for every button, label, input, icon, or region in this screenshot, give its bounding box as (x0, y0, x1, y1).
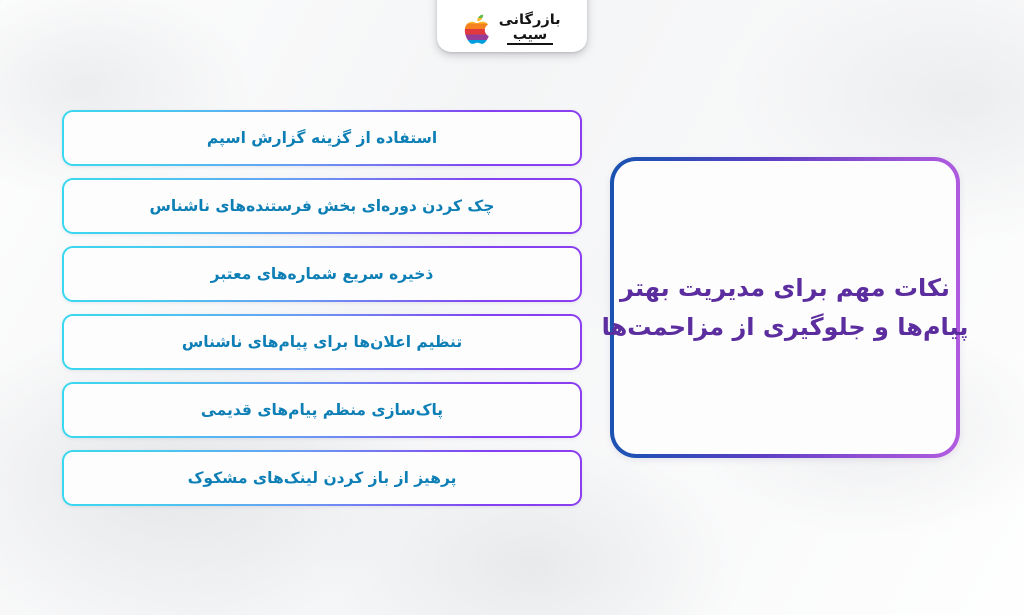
list-item-label: تنظیم اعلان‌ها برای پیام‌های ناشناس (182, 333, 462, 351)
list-item-label: ذخیره سریع شماره‌های معتبر (211, 265, 434, 283)
page-title-line-1: نکات مهم برای مدیریت بهتر (602, 269, 969, 308)
list-item-label: استفاده از گزینه گزارش اسپم (207, 129, 437, 147)
brand-logo-card[interactable]: بازرگانی سیب (437, 0, 587, 52)
logo-line-2: سیب (507, 28, 553, 45)
highlight-panel: نکات مهم برای مدیریت بهتر پیام‌ها و جلوگ… (610, 157, 960, 458)
list-item[interactable]: پرهیز از باز کردن لینک‌های مشکوک (62, 450, 582, 506)
list-item[interactable]: پاک‌سازی منظم پیام‌های قدیمی (62, 382, 582, 438)
logo-wordmark: بازرگانی سیب (500, 13, 559, 45)
list-item[interactable]: ذخیره سریع شماره‌های معتبر (62, 246, 582, 302)
page-title: نکات مهم برای مدیریت بهتر پیام‌ها و جلوگ… (588, 269, 983, 347)
list-item-label: پرهیز از باز کردن لینک‌های مشکوک (188, 469, 457, 487)
tips-list: استفاده از گزینه گزارش اسپم چک کردن دوره… (62, 110, 582, 506)
page-title-line-2: پیام‌ها و جلوگیری از مزاحمت‌ها (602, 308, 969, 347)
logo-line-1: بازرگانی (499, 13, 561, 27)
list-item[interactable]: تنظیم اعلان‌ها برای پیام‌های ناشناس (62, 314, 582, 370)
list-item-label: چک کردن دوره‌ای بخش فرستنده‌های ناشناس (150, 197, 495, 215)
list-item-label: پاک‌سازی منظم پیام‌های قدیمی (201, 401, 443, 419)
list-item[interactable]: چک کردن دوره‌ای بخش فرستنده‌های ناشناس (62, 178, 582, 234)
logo-content: بازرگانی سیب (464, 12, 559, 46)
list-item[interactable]: استفاده از گزینه گزارش اسپم (62, 110, 582, 166)
apple-rainbow-icon (464, 12, 494, 46)
